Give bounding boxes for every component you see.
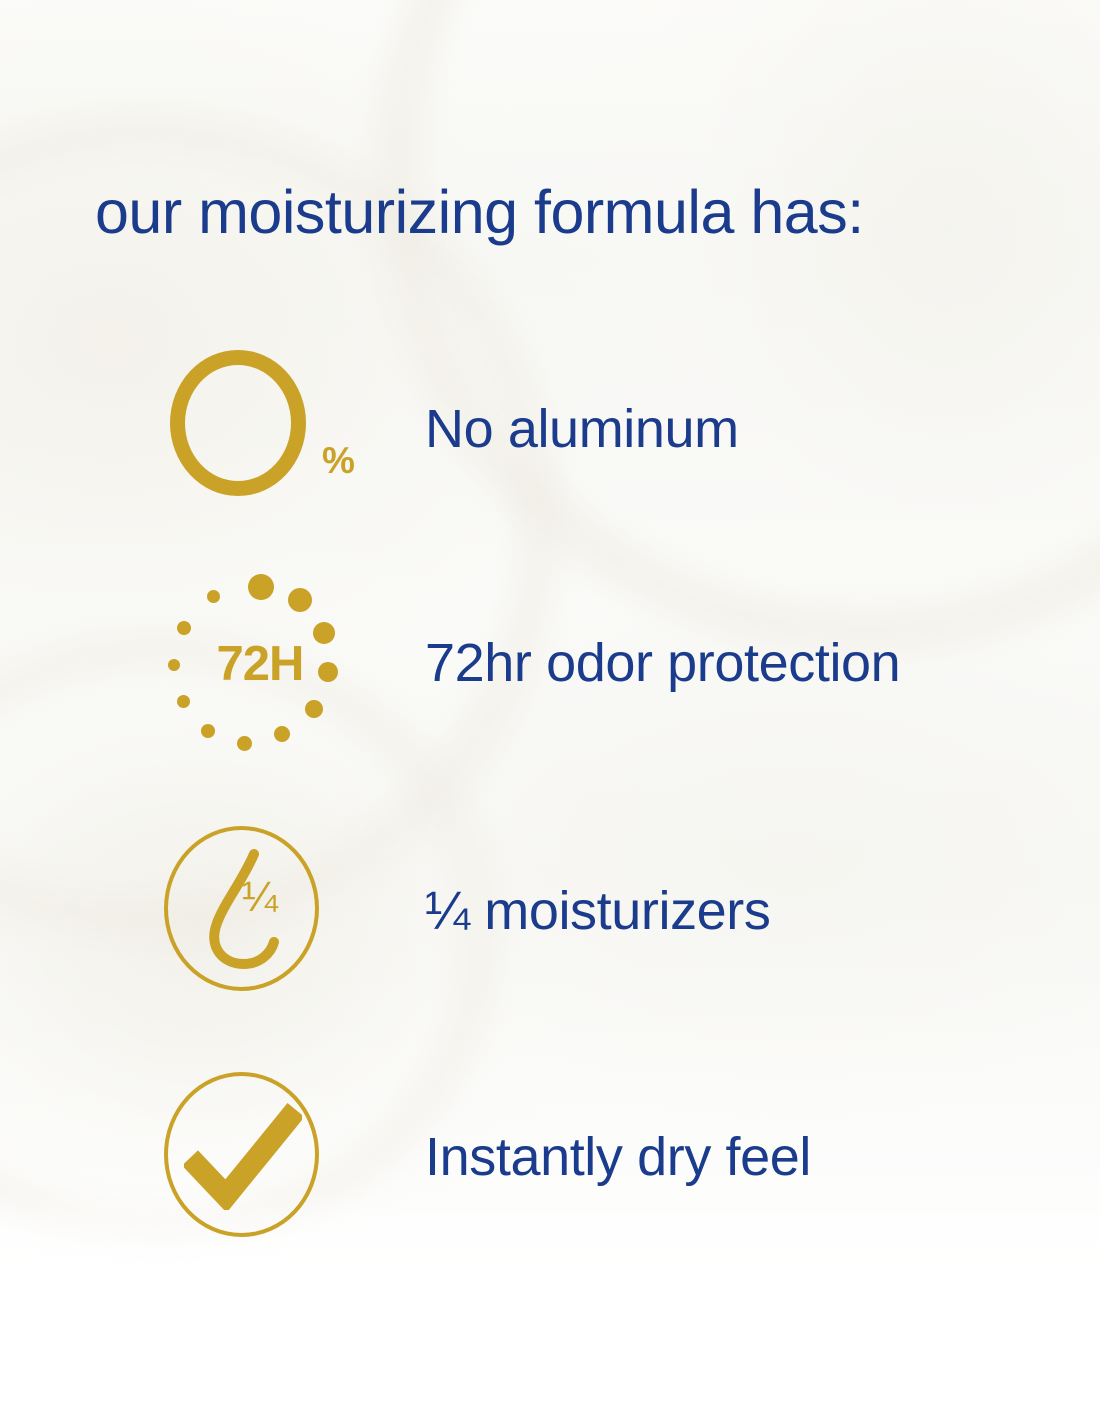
timer-hours-text: 72H [155,564,365,764]
checkmark-circle-icon [150,1072,380,1242]
droplet-quarter-icon: ¼ [150,826,380,996]
benefit-row-no-aluminum: % No aluminum [0,344,1100,514]
benefit-row-instantly-dry: Instantly dry feel [0,1072,1100,1242]
benefit-label-instantly-dry: Instantly dry feel [425,1128,811,1186]
checkmark-shape [184,1100,302,1210]
page-title: our moisturizing formula has: [95,180,1085,244]
benefit-label-odor-protection: 72hr odor protection [425,634,900,692]
benefit-row-odor-protection: 72H 72hr odor protection [0,578,1100,748]
benefit-row-moisturizers: ¼ ¼ moisturizers [0,826,1100,996]
percent-symbol: % [322,442,355,479]
zero-ring-shape [170,350,306,496]
benefit-label-moisturizers: ¼ moisturizers [425,882,770,940]
product-benefits-infographic: our moisturizing formula has: % No alumi… [0,0,1100,1422]
benefit-label-no-aluminum: No aluminum [425,400,739,458]
zero-percent-icon: % [150,344,380,514]
quarter-fraction-text: ¼ [242,876,278,919]
72h-timer-icon: 72H [150,578,380,748]
timer-halo-group: 72H [155,564,365,764]
content-area: our moisturizing formula has: % No alumi… [0,0,1100,1422]
